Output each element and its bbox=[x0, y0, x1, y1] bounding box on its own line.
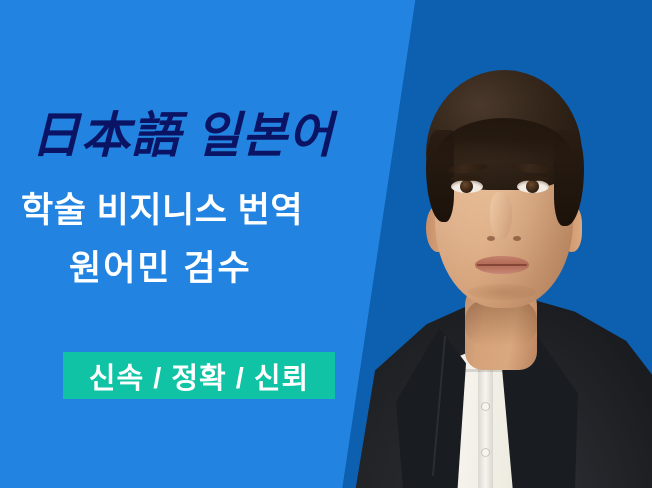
shirt-button bbox=[482, 403, 489, 410]
headline-third-line: 원어민 검수 bbox=[69, 240, 252, 291]
iris-left bbox=[460, 180, 473, 193]
headline-subtitle: 학술 비지니스 번역 bbox=[21, 182, 303, 233]
service-banner-thumbnail: 日本語 일본어 학술 비지니스 번역 원어민 검수 신속 / 정확 / 신뢰 bbox=[0, 0, 652, 488]
shirt-placket bbox=[478, 356, 493, 488]
nostril-left bbox=[487, 236, 495, 241]
eyelid-left bbox=[450, 176, 484, 181]
shirt-button bbox=[482, 449, 489, 456]
chin-shading bbox=[468, 284, 536, 300]
eyelid-right bbox=[516, 176, 550, 181]
eye-right bbox=[517, 180, 549, 193]
headline-main: 日本語 일본어 bbox=[31, 96, 334, 167]
nostril-right bbox=[513, 236, 521, 241]
highlight-badge: 신속 / 정확 / 신뢰 bbox=[63, 352, 335, 399]
eye-left bbox=[451, 180, 483, 193]
lip-line bbox=[477, 264, 527, 266]
iris-right bbox=[526, 180, 539, 193]
nose bbox=[490, 192, 512, 240]
portrait-photo bbox=[330, 0, 652, 488]
highlight-badge-label: 신속 / 정확 / 신뢰 bbox=[89, 355, 309, 397]
